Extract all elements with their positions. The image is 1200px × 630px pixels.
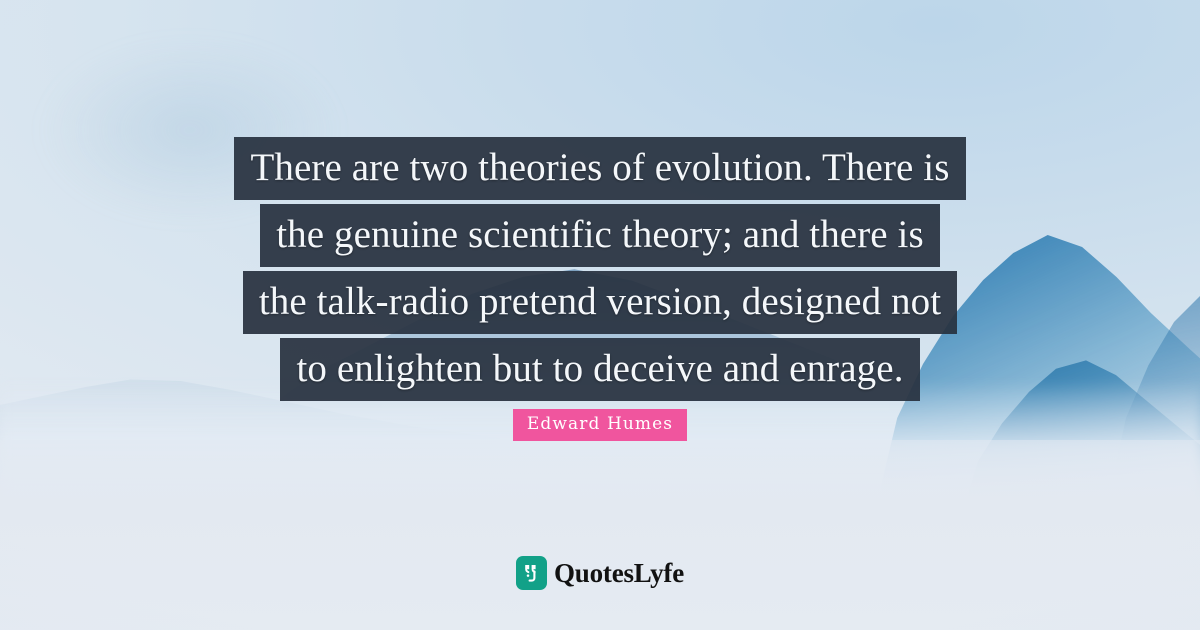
quote-mark-icon bbox=[516, 556, 547, 590]
quote-line: to enlighten but to deceive and enrage. bbox=[280, 338, 919, 401]
quote-line: the genuine scientific theory; and there… bbox=[260, 204, 940, 267]
brand-name: QuotesLyfe bbox=[554, 560, 684, 587]
author-attribution: Edward Humes bbox=[0, 409, 1200, 441]
quote-card: There are two theories of evolution. The… bbox=[0, 0, 1200, 630]
author-name-badge: Edward Humes bbox=[513, 409, 687, 441]
quote-text-block: There are two theories of evolution. The… bbox=[0, 137, 1200, 401]
quote-line: the talk-radio pretend version, designed… bbox=[243, 271, 957, 334]
quote-line: There are two theories of evolution. The… bbox=[234, 137, 965, 200]
brand-logo: QuotesLyfe bbox=[0, 556, 1200, 590]
